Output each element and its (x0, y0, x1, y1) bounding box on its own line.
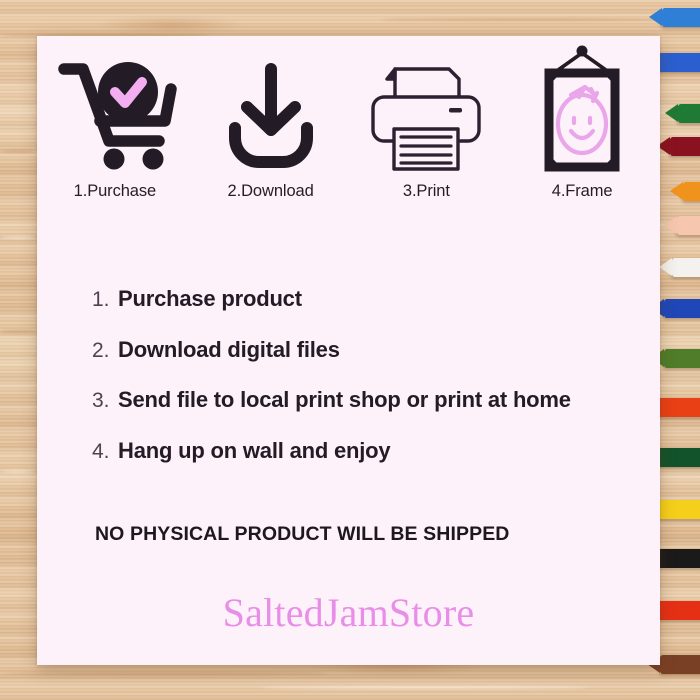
crayon (658, 448, 700, 467)
list-item-number: 4. (92, 440, 118, 464)
hanging-picture-frame-icon (527, 48, 637, 173)
step-purchase: 1.Purchase (37, 48, 193, 201)
step-label: 3.Print (403, 182, 450, 201)
wood-streak (260, 686, 590, 689)
list-item-text: Download digital files (118, 337, 340, 363)
crayon-tip (649, 8, 662, 26)
steps-strip: 1.Purchase 2.Download (37, 48, 660, 201)
crayon (683, 182, 700, 201)
wood-streak (0, 470, 34, 473)
list-item: 1. Purchase product (92, 286, 640, 312)
list-item-text: Purchase product (118, 286, 302, 312)
step-print: 3.Print (349, 48, 505, 201)
wood-streak (0, 236, 36, 239)
instruction-card: 1.Purchase 2.Download (37, 36, 660, 665)
wood-streak (380, 18, 680, 21)
shopping-cart-check-icon (53, 48, 177, 173)
list-item-number: 1. (92, 288, 118, 312)
crayon-tip (659, 258, 672, 276)
crayon (670, 137, 700, 156)
crayon-tip (665, 104, 678, 122)
crayon (654, 500, 700, 519)
list-item-number: 3. (92, 389, 118, 413)
step-label: 2.Download (228, 182, 314, 201)
crayon-tip (664, 216, 677, 234)
printer-icon (367, 48, 485, 173)
crayon (656, 601, 700, 620)
download-arrow-icon (219, 48, 323, 173)
list-item-text: Send file to local print shop or print a… (118, 387, 571, 413)
instruction-list: 1. Purchase product 2. Download digital … (92, 286, 640, 488)
crayon (664, 349, 700, 368)
crayon (662, 8, 700, 27)
crayon (677, 216, 700, 235)
product-photo-scene: 1.Purchase 2.Download (0, 0, 700, 700)
crayon (678, 104, 700, 123)
list-item: 3. Send file to local print shop or prin… (92, 387, 640, 413)
step-download: 2.Download (193, 48, 349, 201)
crayon (656, 549, 700, 568)
crayon (664, 299, 700, 318)
step-label: 1.Purchase (74, 182, 156, 201)
crayon (672, 258, 700, 277)
list-item: 2. Download digital files (92, 337, 640, 363)
step-frame: 4.Frame (504, 48, 660, 201)
crayon (658, 53, 700, 72)
crayon-tip (670, 182, 683, 200)
wood-streak (0, 330, 36, 333)
disclaimer-text: NO PHYSICAL PRODUCT WILL BE SHIPPED (95, 523, 510, 546)
brand-wordmark: SaltedJamStore (37, 589, 660, 636)
step-label: 4.Frame (552, 182, 613, 201)
list-item-number: 2. (92, 339, 118, 363)
wood-streak (0, 672, 330, 675)
wood-streak (0, 150, 34, 153)
list-item: 4. Hang up on wall and enjoy (92, 438, 640, 464)
crayon (656, 398, 700, 417)
list-item-text: Hang up on wall and enjoy (118, 438, 390, 464)
wood-knot (95, 16, 245, 34)
crayon (660, 655, 700, 674)
